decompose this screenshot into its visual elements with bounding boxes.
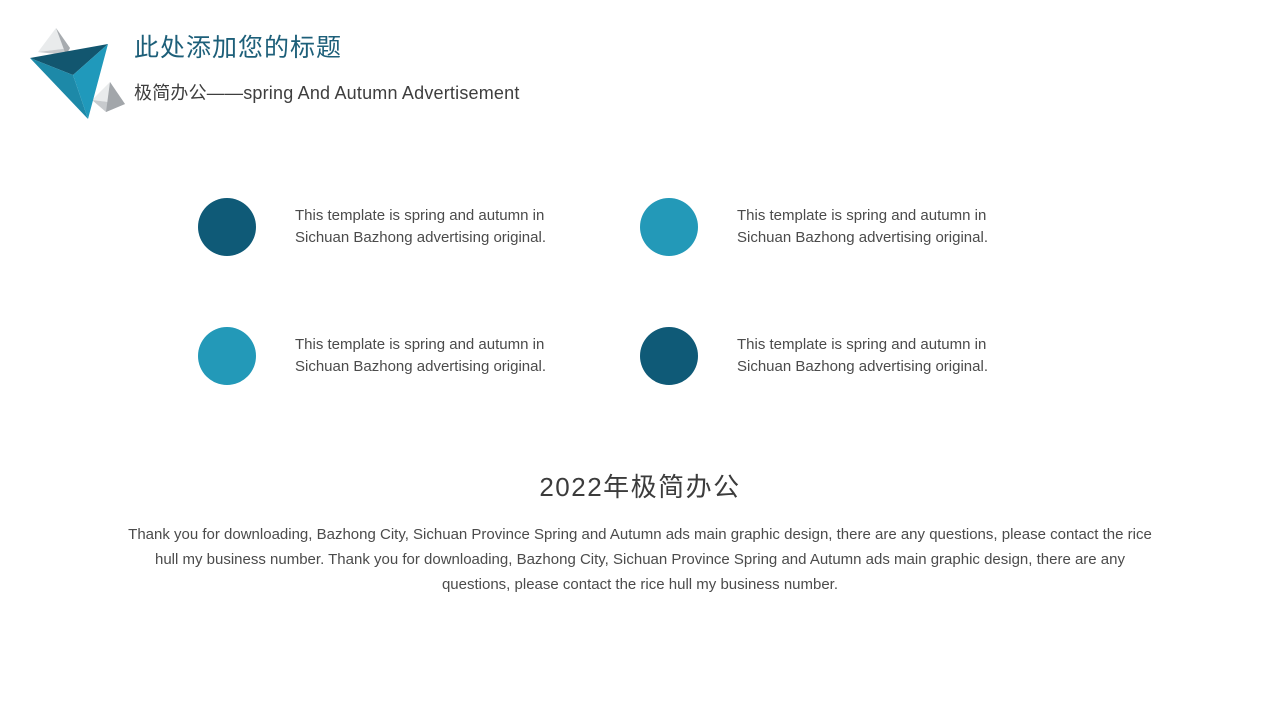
page-subtitle: 极简办公——spring And Autumn Advertisement	[134, 81, 520, 105]
bullet-item-3[interactable]: This template is spring and autumn in Si…	[198, 327, 640, 385]
bullet-dot-1-icon	[198, 198, 256, 256]
bullet-text-2: This template is spring and autumn in Si…	[737, 205, 1027, 249]
bullet-dot-2-icon	[640, 198, 698, 256]
closing-paragraph: Thank you for downloading, Bazhong City,…	[126, 522, 1154, 597]
closing-heading: 2022年极简办公	[0, 470, 1280, 504]
bullet-item-4[interactable]: This template is spring and autumn in Si…	[640, 327, 1082, 385]
slide-header: 此处添加您的标题 极简办公——spring And Autumn Adverti…	[0, 0, 1280, 140]
header-text-block: 此处添加您的标题 极简办公——spring And Autumn Adverti…	[134, 33, 520, 105]
bullet-text-3: This template is spring and autumn in Si…	[295, 334, 585, 378]
bullet-grid: This template is spring and autumn in Si…	[198, 198, 1082, 385]
logo-main-tetrahedron	[30, 44, 108, 119]
tetrahedron-logo-icon	[26, 22, 128, 124]
bullet-item-2[interactable]: This template is spring and autumn in Si…	[640, 198, 1082, 256]
bullet-row: This template is spring and autumn in Si…	[198, 327, 1082, 385]
bullet-dot-3-icon	[198, 327, 256, 385]
closing-block: 2022年极简办公 Thank you for downloading, Baz…	[0, 470, 1280, 597]
bullet-item-1[interactable]: This template is spring and autumn in Si…	[198, 198, 640, 256]
logo-gray-shard-bottom-right	[92, 82, 125, 112]
bullet-dot-4-icon	[640, 327, 698, 385]
bullet-text-1: This template is spring and autumn in Si…	[295, 205, 585, 249]
bullet-row: This template is spring and autumn in Si…	[198, 198, 1082, 256]
bullet-text-4: This template is spring and autumn in Si…	[737, 334, 1027, 378]
page-title: 此处添加您的标题	[134, 33, 520, 63]
logo-gray-shard-top-left	[38, 28, 70, 55]
